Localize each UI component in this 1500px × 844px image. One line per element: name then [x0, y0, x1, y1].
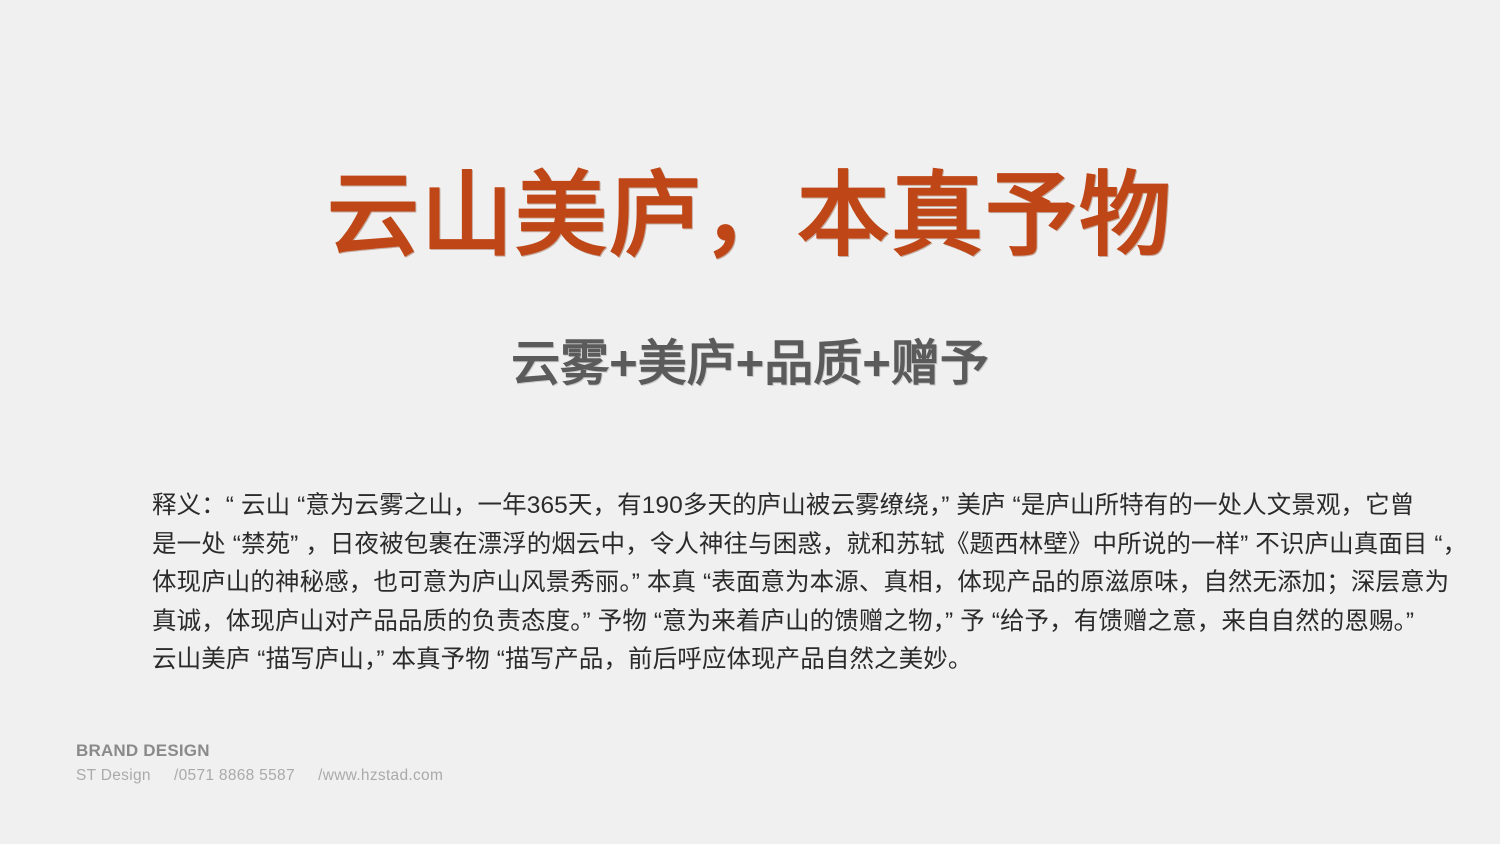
body-line: 真诚，体现庐山对产品品质的负责态度。” 予物 “意为来着庐山的馈赠之物，” 予 …	[152, 603, 1362, 642]
body-line: 体现庐山的神秘感，也可意为庐山风景秀丽。” 本真 “表面意为本源、真相，体现产品…	[152, 564, 1362, 603]
subtitle-block: 云雾+美庐+品质+赠予	[0, 338, 1500, 392]
footer-brand-label: BRAND DESIGN	[76, 740, 443, 762]
body-line: 释义：“ 云山 “意为云雾之山，一年365天，有190多天的庐山被云雾缭绕，” …	[152, 487, 1362, 526]
body-line: 云山美庐 “描写庐山，” 本真予物 “描写产品，前后呼应体现产品自然之美妙。	[152, 641, 1362, 680]
slide-canvas: 云山美庐，本真予物 云雾+美庐+品质+赠予 释义：“ 云山 “意为云雾之山，一年…	[0, 0, 1500, 844]
footer-studio-name: ST Design	[76, 767, 151, 784]
page-title: 云山美庐，本真予物	[327, 168, 1173, 265]
footer-meta: ST Design /0571 8868 5587 /www.hzstad.co…	[76, 766, 443, 786]
body-line: 是一处 “禁苑” ，日夜被包裹在漂浮的烟云中，令人神往与困惑，就和苏轼《题西林壁…	[152, 526, 1362, 565]
title-block: 云山美庐，本真予物	[0, 168, 1500, 265]
footer-phone: /0571 8868 5587	[174, 767, 295, 784]
body-paragraph: 释义：“ 云山 “意为云雾之山，一年365天，有190多天的庐山被云雾缭绕，” …	[152, 487, 1362, 680]
page-subtitle: 云雾+美庐+品质+赠予	[511, 338, 989, 392]
footer: BRAND DESIGN ST Design /0571 8868 5587 /…	[76, 740, 443, 786]
footer-website[interactable]: /www.hzstad.com	[318, 767, 443, 784]
